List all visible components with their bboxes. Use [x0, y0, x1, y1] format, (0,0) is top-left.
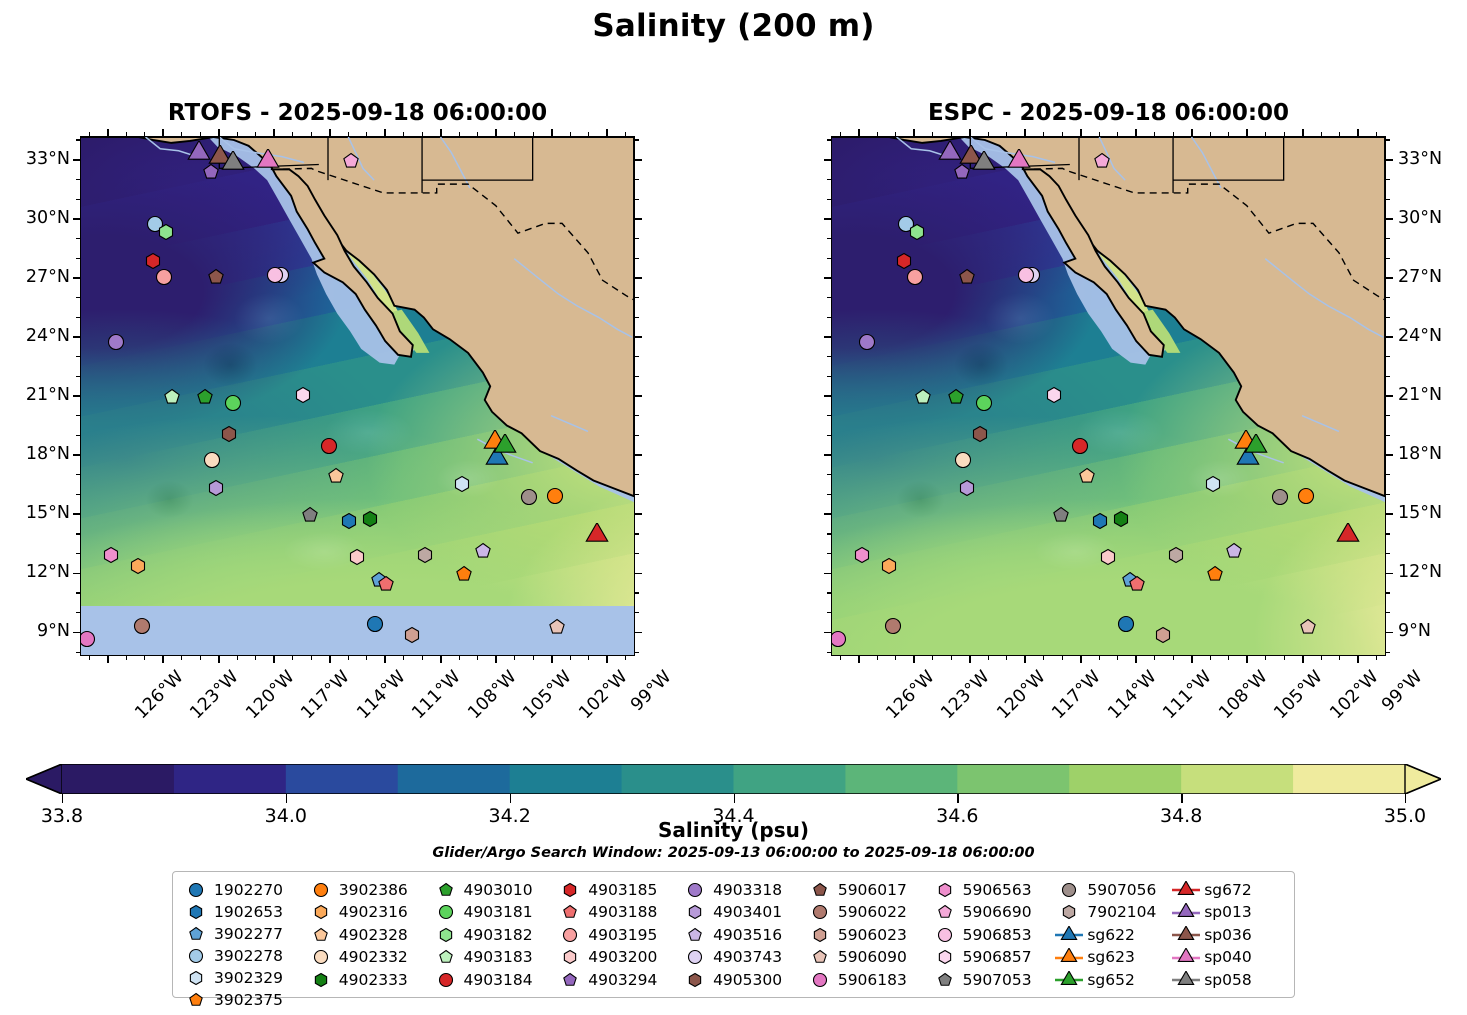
map-marker-5906853[interactable]	[266, 266, 284, 288]
colorbar-tick	[286, 794, 287, 803]
legend-item-4903401[interactable]: 4903401	[680, 902, 805, 924]
map-marker-1902270[interactable]	[366, 615, 384, 637]
map-marker-5906857[interactable]	[1045, 386, 1063, 408]
y-minor-tick	[827, 199, 831, 200]
y-minor-tick	[1386, 415, 1390, 416]
x-minor-tick	[1173, 132, 1174, 136]
legend-marker-icon-4905300	[680, 969, 710, 990]
colorbar-tick	[1181, 794, 1182, 803]
legend-item-4905300[interactable]: 4905300	[680, 969, 805, 991]
legend-item-5907053[interactable]: 5907053	[930, 969, 1055, 991]
legend-item-4903200[interactable]: 4903200	[555, 947, 680, 969]
map-marker-4903516[interactable]	[474, 542, 492, 564]
map-marker-5906690[interactable]	[1093, 152, 1111, 174]
legend-label-4903184: 4903184	[461, 971, 533, 989]
x-minor-tick	[366, 132, 367, 136]
legend-label-4903181: 4903181	[461, 903, 533, 921]
y-minor-tick	[827, 415, 831, 416]
y-tick	[635, 218, 642, 220]
map-marker-1902653[interactable]	[1091, 512, 1109, 534]
y-minor-tick	[76, 652, 80, 653]
x-minor-tick	[292, 656, 293, 660]
y-minor-tick	[1386, 494, 1390, 495]
legend-item-4903516[interactable]: 4903516	[680, 924, 805, 946]
map-marker-3902329[interactable]	[1204, 475, 1222, 497]
panel-title-rtofs: RTOFS - 2025-09-18 06:00:00	[80, 100, 635, 126]
map-marker-5906090[interactable]	[1299, 618, 1317, 640]
map-marker-5906563[interactable]	[102, 546, 120, 568]
y-minor-tick	[635, 474, 639, 475]
legend-marker-icon-3902277	[181, 923, 211, 944]
map-marker-1902653[interactable]	[340, 512, 358, 534]
x-tick	[1357, 129, 1359, 136]
map-marker-4902332[interactable]	[203, 451, 221, 473]
map-marker-4903010[interactable]	[196, 388, 214, 410]
legend-marker-icon-1902653	[181, 901, 211, 922]
y-minor-tick	[1386, 238, 1390, 239]
legend-item-5906183[interactable]: 5906183	[805, 969, 930, 991]
y-tick	[635, 336, 642, 338]
map-marker-4902333[interactable]	[1112, 510, 1130, 532]
legend-column-3: 49030104903181490318249031834903184	[431, 879, 556, 991]
map-marker-4903183[interactable]	[163, 388, 181, 410]
map-marker-5906090[interactable]	[548, 618, 566, 640]
legend-label-4902332: 4902332	[336, 948, 408, 966]
map-marker-4902333[interactable]	[361, 510, 379, 532]
map-marker-4905300[interactable]	[220, 425, 238, 447]
y-minor-tick	[76, 415, 80, 416]
x-minor-tick	[1284, 656, 1285, 660]
y-tick	[635, 573, 642, 575]
legend-item-4903188[interactable]: 4903188	[555, 902, 680, 924]
x-tick	[218, 656, 220, 663]
map-marker-5906857[interactable]	[294, 386, 312, 408]
x-minor-tick	[1339, 656, 1340, 660]
legend-item-4903181[interactable]: 4903181	[431, 902, 556, 924]
map-marker-5906183[interactable]	[80, 630, 96, 652]
x-tick	[1302, 129, 1304, 136]
legend-item-sp013[interactable]: sp013	[1171, 902, 1288, 924]
map-marker-4903181[interactable]	[975, 394, 993, 416]
x-tick-label: 117°W	[298, 667, 354, 723]
y-minor-tick	[1386, 179, 1390, 180]
map-marker-4902316[interactable]	[129, 557, 147, 579]
map-marker-sp040[interactable]	[256, 149, 280, 177]
y-minor-tick	[635, 553, 639, 554]
x-minor-tick	[89, 656, 90, 660]
map-marker-4902332[interactable]	[954, 451, 972, 473]
legend-item-5906022[interactable]: 5906022	[805, 902, 930, 924]
map-marker-4903516[interactable]	[1225, 542, 1243, 564]
legend-label-4905300: 4905300	[710, 971, 782, 989]
x-tick	[1135, 129, 1137, 136]
y-tick-label: 12°N	[1398, 562, 1442, 582]
y-tick-label: 27°N	[0, 267, 70, 287]
map-marker-5907056[interactable]	[1271, 488, 1289, 510]
map-marker-sp040[interactable]	[1007, 149, 1031, 177]
legend-label-4903195: 4903195	[585, 926, 657, 944]
x-minor-tick	[1210, 132, 1211, 136]
y-minor-tick	[76, 258, 80, 259]
map-marker-5906563[interactable]	[853, 546, 871, 568]
map-marker-4903318[interactable]	[858, 333, 876, 355]
map-marker-4903010[interactable]	[947, 388, 965, 410]
y-tick	[1386, 336, 1393, 338]
y-tick	[73, 395, 80, 397]
y-tick	[635, 277, 642, 279]
x-tick	[1246, 656, 1248, 663]
y-tick	[73, 454, 80, 456]
map-marker-sg652[interactable]	[493, 434, 517, 462]
map-marker-4903195[interactable]	[155, 268, 173, 290]
x-minor-tick	[1321, 132, 1322, 136]
legend-marker-icon-4903010	[431, 879, 461, 900]
x-minor-tick	[533, 132, 534, 136]
x-minor-tick	[1210, 656, 1211, 660]
x-minor-tick	[1321, 656, 1322, 660]
legend-item-4902316[interactable]: 4902316	[306, 902, 431, 924]
map-marker-5906022[interactable]	[884, 617, 902, 639]
x-tick	[551, 656, 553, 663]
y-minor-tick	[635, 415, 639, 416]
x-minor-tick	[1228, 132, 1229, 136]
y-minor-tick	[1386, 297, 1390, 298]
colorbar-gradient	[26, 764, 1441, 794]
legend-item-4903743[interactable]: 4903743	[680, 947, 805, 969]
legend-item-1902653[interactable]: 1902653	[181, 901, 306, 922]
x-minor-tick	[292, 132, 293, 136]
y-tick	[1386, 395, 1393, 397]
map-marker-4903181[interactable]	[224, 394, 242, 416]
x-tick	[1080, 656, 1082, 663]
y-minor-tick	[827, 317, 831, 318]
y-minor-tick	[635, 592, 639, 593]
legend-label-5906857: 5906857	[960, 948, 1032, 966]
legend-item-sp036[interactable]: sp036	[1171, 924, 1288, 946]
y-minor-tick	[76, 317, 80, 318]
map-marker-4905300[interactable]	[971, 425, 989, 447]
legend-item-sg623[interactable]: sg623	[1054, 947, 1171, 969]
x-minor-tick	[588, 132, 589, 136]
y-minor-tick	[76, 612, 80, 613]
legend-item-sp058[interactable]: sp058	[1171, 969, 1288, 991]
legend-marker-icon-4903188	[555, 902, 585, 923]
x-tick-label: 102°W	[575, 667, 631, 723]
legend-item-5906090[interactable]: 5906090	[805, 947, 930, 969]
legend-marker-icon-4902316	[306, 902, 336, 923]
x-tick-label: 111°W	[1160, 667, 1216, 723]
map-canvas-espc[interactable]	[831, 136, 1386, 656]
map-marker-3902386[interactable]	[1297, 487, 1315, 509]
map-marker-4903188[interactable]	[377, 575, 395, 597]
legend-item-3902278[interactable]: 3902278	[181, 945, 306, 966]
legend-marker-icon-3902278	[181, 945, 211, 966]
y-minor-tick	[827, 652, 831, 653]
y-minor-tick	[76, 533, 80, 534]
y-minor-tick	[635, 376, 639, 377]
y-tick-label: 15°N	[0, 503, 70, 523]
x-tick-label: 120°W	[993, 667, 1049, 723]
y-minor-tick	[635, 533, 639, 534]
x-minor-tick	[951, 132, 952, 136]
map-marker-4903182[interactable]	[157, 223, 175, 245]
legend-item-4903182[interactable]: 4903182	[431, 924, 556, 946]
x-tick-label: 126°W	[131, 667, 187, 723]
y-minor-tick	[635, 199, 639, 200]
x-tick	[495, 129, 497, 136]
legend-column-5: 49033184903401490351649037434905300	[680, 879, 805, 991]
legend-label-5906017: 5906017	[835, 881, 907, 899]
map-marker-4902328[interactable]	[1078, 467, 1096, 489]
map-marker-4903200[interactable]	[348, 548, 366, 570]
y-tick	[635, 395, 642, 397]
legend-item-4903185[interactable]: 4903185	[555, 879, 680, 901]
legend-marker-icon-5906023	[805, 924, 835, 945]
x-minor-tick	[144, 656, 145, 660]
y-minor-tick	[1386, 435, 1390, 436]
colorbar-tick	[734, 794, 735, 803]
y-minor-tick	[76, 553, 80, 554]
legend-item-5906023[interactable]: 5906023	[805, 924, 930, 946]
legend-marker-icon-sg622	[1054, 924, 1084, 945]
y-tick-label: 33°N	[1398, 149, 1442, 169]
x-minor-tick	[877, 132, 878, 136]
legend-label-5906690: 5906690	[960, 903, 1032, 921]
x-minor-tick	[311, 132, 312, 136]
x-minor-tick	[348, 132, 349, 136]
x-tick	[384, 129, 386, 136]
legend-item-4902328[interactable]: 4902328	[306, 924, 431, 946]
colorbar-title: Salinity (psu)	[0, 818, 1467, 842]
y-minor-tick	[635, 297, 639, 298]
legend-item-1902270[interactable]: 1902270	[181, 879, 306, 900]
x-tick	[913, 129, 915, 136]
y-tick	[824, 277, 831, 279]
map-marker-4903200[interactable]	[1099, 548, 1117, 570]
map-marker-4903401[interactable]	[958, 479, 976, 501]
map-marker-sg652[interactable]	[1244, 434, 1268, 462]
y-tick-label: 9°N	[1398, 621, 1431, 641]
x-minor-tick	[1117, 132, 1118, 136]
map-marker-1902270[interactable]	[1117, 615, 1135, 637]
y-tick	[73, 218, 80, 220]
legend-label-3902329: 3902329	[211, 969, 283, 987]
legend-label-4903010: 4903010	[461, 881, 533, 899]
map-marker-4903318[interactable]	[107, 333, 125, 355]
legend-marker-icon-5907053	[930, 969, 960, 990]
y-minor-tick	[76, 297, 80, 298]
legend-label-4903516: 4903516	[710, 926, 782, 944]
legend-marker-icon-4903181	[431, 902, 461, 923]
legend-item-4902333[interactable]: 4902333	[306, 969, 431, 991]
legend-label-5906853: 5906853	[960, 926, 1032, 944]
y-tick-label: 30°N	[1398, 208, 1442, 228]
y-minor-tick	[827, 238, 831, 239]
legend-label-4903182: 4903182	[461, 926, 533, 944]
legend-item-4903195[interactable]: 4903195	[555, 924, 680, 946]
legend-item-4903183[interactable]: 4903183	[431, 947, 556, 969]
y-tick-label: 21°N	[1398, 385, 1442, 405]
y-tick	[824, 336, 831, 338]
map-marker-4902328[interactable]	[327, 467, 345, 489]
x-minor-tick	[89, 132, 90, 136]
x-minor-tick	[988, 132, 989, 136]
map-marker-3902375[interactable]	[455, 565, 473, 587]
legend-item-sg622[interactable]: sg622	[1054, 924, 1171, 946]
legend-column-7: 59065635906690590685359068575907053	[930, 879, 1055, 991]
map-marker-4903188[interactable]	[1128, 575, 1146, 597]
y-minor-tick	[1386, 592, 1390, 593]
map-marker-3902386[interactable]	[546, 487, 564, 509]
legend-item-sg652[interactable]: sg652	[1054, 969, 1171, 991]
legend-item-3902386[interactable]: 3902386	[306, 879, 431, 901]
map-panel-rtofs: RTOFS - 2025-09-18 06:00:00 9°N12°N15°N1…	[80, 136, 635, 656]
map-marker-4903401[interactable]	[207, 479, 225, 501]
map-marker-5907053[interactable]	[1052, 506, 1070, 528]
legend-item-3902375[interactable]: 3902375	[181, 989, 306, 1010]
map-marker-sg672[interactable]	[585, 523, 609, 551]
y-minor-tick	[827, 494, 831, 495]
legend-column-9: sg672sp013sp036sp040sp058	[1171, 879, 1288, 991]
y-minor-tick	[827, 297, 831, 298]
y-minor-tick	[827, 612, 831, 613]
map-marker-sg672[interactable]	[1336, 523, 1360, 551]
legend-marker-icon-5906690	[930, 902, 960, 923]
x-minor-tick	[951, 656, 952, 660]
map-marker-5906690[interactable]	[342, 152, 360, 174]
map-marker-7902104[interactable]	[416, 546, 434, 568]
map-marker-4903184[interactable]	[320, 437, 338, 459]
legend-item-4903010[interactable]: 4903010	[431, 879, 556, 901]
x-tick	[1191, 656, 1193, 663]
legend-item-5906690[interactable]: 5906690	[930, 902, 1055, 924]
legend-item-5907056[interactable]: 5907056	[1054, 879, 1171, 901]
map-marker-4903182[interactable]	[908, 223, 926, 245]
legend-label-5906563: 5906563	[960, 881, 1032, 899]
map-marker-5906017[interactable]	[207, 268, 225, 290]
y-minor-tick	[635, 494, 639, 495]
map-marker-sp058[interactable]	[972, 151, 996, 179]
legend-marker-icon-3902386	[306, 879, 336, 900]
map-marker-4903184[interactable]	[1071, 437, 1089, 459]
map-marker-3902329[interactable]	[453, 475, 471, 497]
map-marker-5906023[interactable]	[1154, 626, 1172, 648]
legend-item-5906017[interactable]: 5906017	[805, 879, 930, 901]
y-minor-tick	[635, 317, 639, 318]
y-minor-tick	[76, 238, 80, 239]
map-marker-7902104[interactable]	[1167, 546, 1185, 568]
legend-marker-icon-7902104	[1054, 902, 1084, 923]
map-marker-4903195[interactable]	[906, 268, 924, 290]
map-marker-sp058[interactable]	[221, 151, 245, 179]
legend-item-sp040[interactable]: sp040	[1171, 947, 1288, 969]
legend-item-5906853[interactable]: 5906853	[930, 924, 1055, 946]
x-minor-tick	[200, 656, 201, 660]
map-marker-5906022[interactable]	[133, 617, 151, 639]
legend-label-sp013: sp013	[1201, 903, 1252, 921]
x-tick	[329, 656, 331, 663]
y-tick-label: 27°N	[1398, 267, 1442, 287]
x-minor-tick	[1062, 656, 1063, 660]
y-minor-tick	[635, 179, 639, 180]
y-tick	[1386, 159, 1393, 161]
legend-item-7902104[interactable]: 7902104	[1054, 902, 1171, 924]
legend-marker-icon-4902328	[306, 924, 336, 945]
x-tick	[969, 129, 971, 136]
map-marker-5906853[interactable]	[1017, 266, 1035, 288]
legend-column-4: 49031854903188490319549032004903294	[555, 879, 680, 991]
map-marker-5906017[interactable]	[958, 268, 976, 290]
legend-marker-icon-3902375	[181, 989, 211, 1010]
legend-item-5906857[interactable]: 5906857	[930, 947, 1055, 969]
x-tick	[440, 129, 442, 136]
map-marker-4903183[interactable]	[914, 388, 932, 410]
legend-item-4903294[interactable]: 4903294	[555, 969, 680, 991]
x-tick-label: 123°W	[187, 667, 243, 723]
y-minor-tick	[76, 435, 80, 436]
x-tick	[606, 129, 608, 136]
legend-item-4903318[interactable]: 4903318	[680, 879, 805, 901]
x-tick-label: 111°W	[409, 667, 465, 723]
map-marker-5906183[interactable]	[831, 630, 847, 652]
x-minor-tick	[1376, 656, 1377, 660]
x-minor-tick	[311, 656, 312, 660]
x-tick	[107, 129, 109, 136]
x-minor-tick	[1284, 132, 1285, 136]
x-minor-tick	[144, 132, 145, 136]
legend-item-sg672[interactable]: sg672	[1171, 879, 1288, 901]
map-marker-4902316[interactable]	[880, 557, 898, 579]
map-marker-3902375[interactable]	[1206, 565, 1224, 587]
x-tick	[606, 656, 608, 663]
legend-marker-icon-5907056	[1054, 879, 1084, 900]
y-tick	[73, 336, 80, 338]
legend-item-4902332[interactable]: 4902332	[306, 947, 431, 969]
y-minor-tick	[827, 258, 831, 259]
y-tick	[73, 573, 80, 575]
x-tick	[162, 129, 164, 136]
x-minor-tick	[348, 656, 349, 660]
legend-marker-icon-5906853	[930, 924, 960, 945]
map-marker-5906023[interactable]	[403, 626, 421, 648]
x-tick	[913, 656, 915, 663]
legend-item-3902329[interactable]: 3902329	[181, 967, 306, 988]
y-minor-tick	[827, 474, 831, 475]
legend-item-3902277[interactable]: 3902277	[181, 923, 306, 944]
x-tick	[218, 129, 220, 136]
x-tick-label: 114°W	[1104, 667, 1160, 723]
y-minor-tick	[1386, 533, 1390, 534]
legend-label-4902316: 4902316	[336, 903, 408, 921]
x-minor-tick	[422, 132, 423, 136]
colorbar-tick	[510, 794, 511, 803]
map-marker-5907056[interactable]	[520, 488, 538, 510]
y-minor-tick	[76, 179, 80, 180]
map-marker-5907053[interactable]	[301, 506, 319, 528]
legend-marker-icon-4903401	[680, 902, 710, 923]
legend-label-4903743: 4903743	[710, 948, 782, 966]
x-minor-tick	[1154, 656, 1155, 660]
y-tick	[635, 513, 642, 515]
legend-item-4903184[interactable]: 4903184	[431, 969, 556, 991]
x-tick	[1357, 656, 1359, 663]
x-minor-tick	[459, 132, 460, 136]
y-tick-label: 18°N	[0, 444, 70, 464]
map-canvas-rtofs[interactable]	[80, 136, 635, 656]
x-minor-tick	[255, 656, 256, 660]
x-tick-label: 99°W	[1378, 667, 1426, 715]
legend-item-5906563[interactable]: 5906563	[930, 879, 1055, 901]
